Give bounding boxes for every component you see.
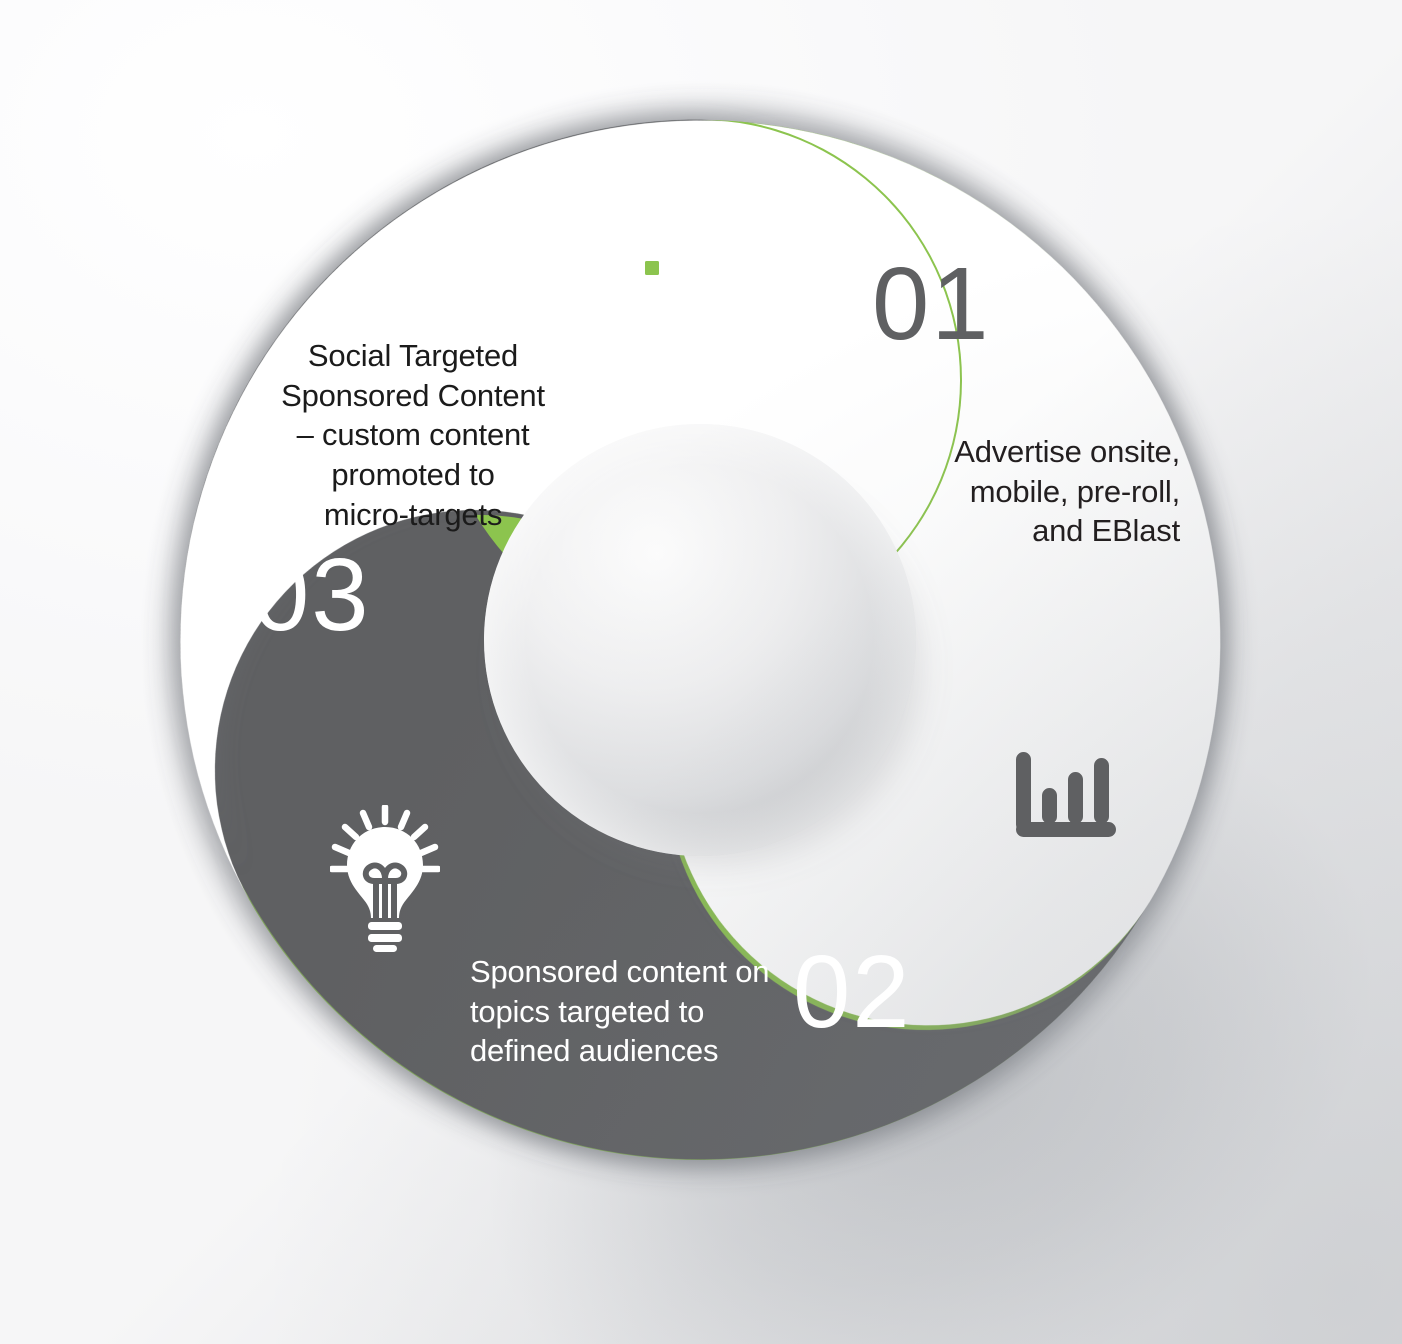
bar-chart-icon — [1010, 748, 1122, 848]
segment-03-text: Social Targeted Sponsored Content – cust… — [258, 336, 568, 534]
segment-03-number: 03 — [252, 543, 371, 646]
process-wheel-graphic — [0, 0, 1402, 1344]
segment-01-text: Advertise onsite, mobile, pre-roll, and … — [880, 432, 1180, 551]
briefcase-icon — [586, 208, 718, 326]
infographic-canvas: 01 Advertise onsite, mobile, pre-roll, a… — [0, 0, 1402, 1344]
segment-02-number: 02 — [793, 940, 912, 1043]
segment-01-number: 01 — [872, 252, 991, 355]
lightbulb-icon — [330, 805, 440, 953]
segment-02-text: Sponsored content on topics targeted to … — [470, 952, 800, 1071]
